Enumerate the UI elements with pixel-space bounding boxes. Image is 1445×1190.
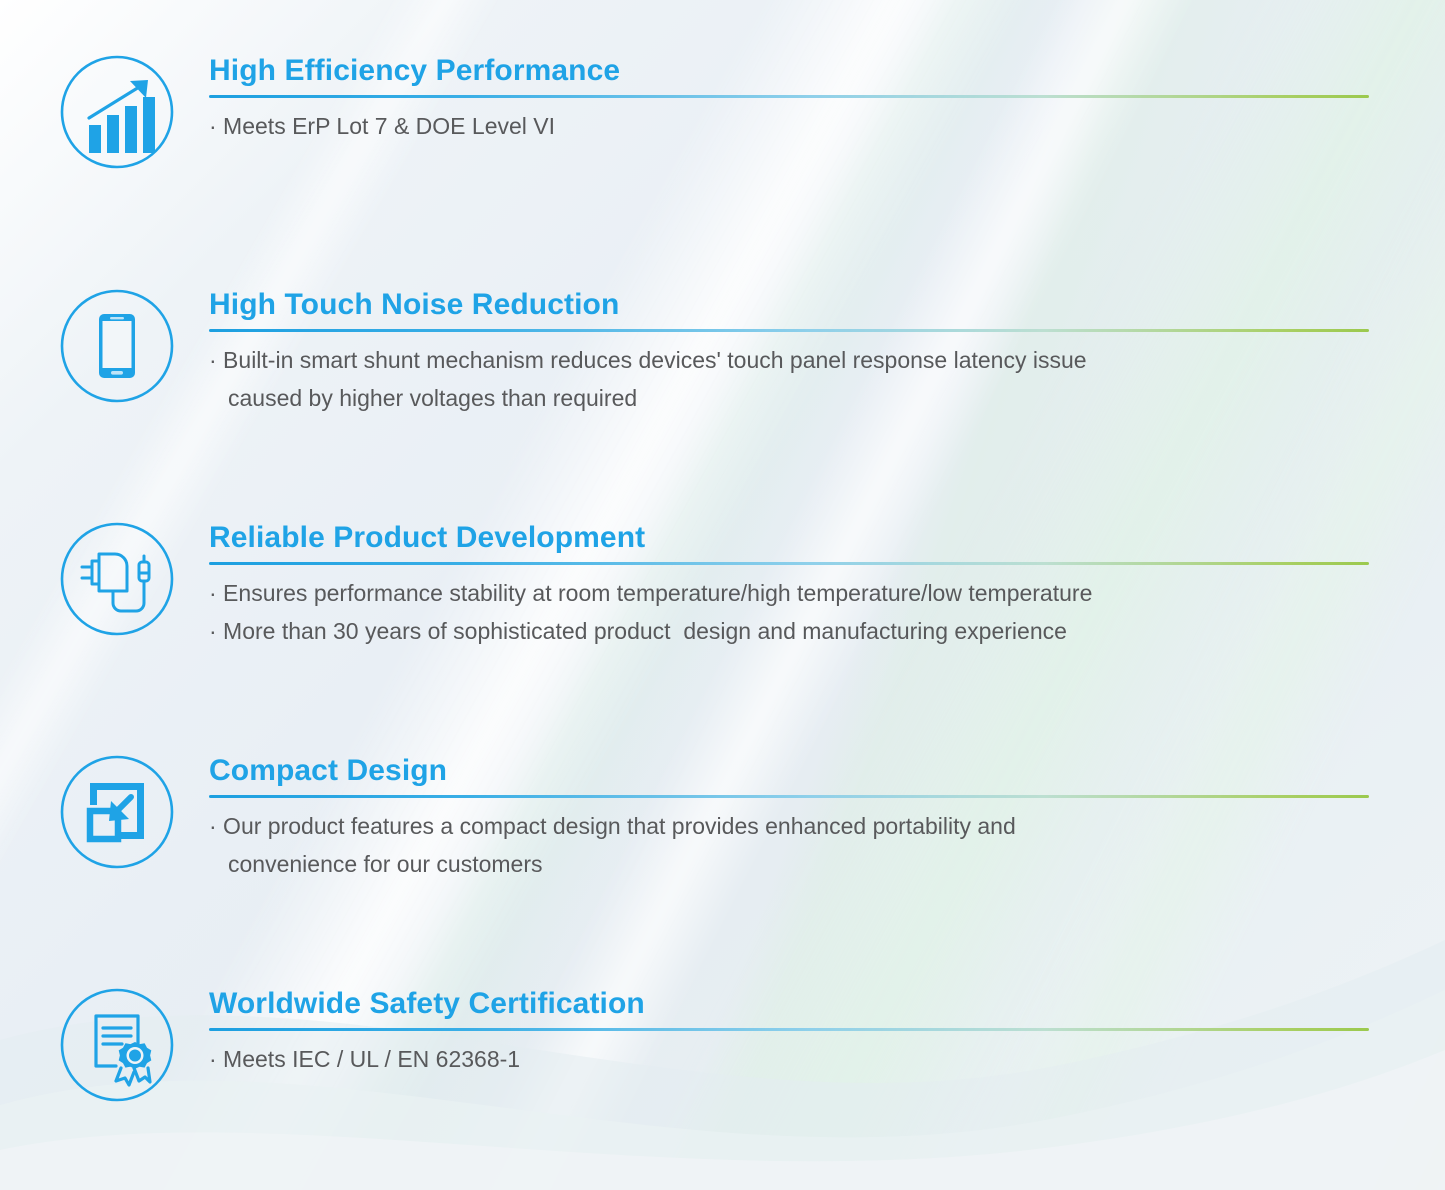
certificate-award-icon [58,986,176,1104]
feature-row: Reliable Product Development · Ensures p… [0,520,1445,710]
bullet-text: Ensures performance stability at room te… [217,580,1093,606]
feature-divider [209,795,1369,798]
bullet-item: · More than 30 years of sophisticated pr… [209,612,1445,650]
bullet-item: · Our product features a compact design … [209,807,1445,883]
smartphone-icon [58,287,176,405]
feature-row: High Efficiency Performance · Meets ErP … [0,53,1445,223]
feature-bullets: · Meets ErP Lot 7 & DOE Level VI [209,107,1445,145]
bullet-item: · Meets IEC / UL / EN 62368-1 [209,1040,1445,1078]
bullet-text: · [209,580,217,606]
bullet-item: · Built-in smart shunt mechanism reduces… [209,341,1445,417]
compact-resize-icon [58,753,176,871]
feature-heading: High Touch Noise Reduction [209,287,1445,323]
bullet-text: Our product features a compact design th… [217,813,1016,839]
feature-heading: Reliable Product Development [209,520,1445,556]
feature-bullets: · Ensures performance stability at room … [209,574,1445,650]
bullet-text: · [209,113,217,139]
feature-divider [209,562,1369,565]
bullet-text: · [209,813,217,839]
power-adapter-icon [58,520,176,638]
feature-row: Compact Design · Our product features a … [0,753,1445,943]
feature-divider [209,329,1369,332]
bullet-text: More than 30 years of sophisticated prod… [217,618,1067,644]
feature-divider [209,95,1369,98]
bullet-text: · [209,347,217,373]
bullet-item: · Meets ErP Lot 7 & DOE Level VI [209,107,1445,145]
bullet-text: Meets IEC / UL / EN 62368-1 [217,1046,520,1072]
bullet-item: · Ensures performance stability at room … [209,574,1445,612]
feature-bullets: · Meets IEC / UL / EN 62368-1 [209,1040,1445,1078]
feature-heading: Worldwide Safety Certification [209,986,1445,1022]
feature-heading: High Efficiency Performance [209,53,1445,89]
bullet-text: Built-in smart shunt mechanism reduces d… [217,347,1087,373]
bullet-text-continued: caused by higher voltages than required [209,379,1445,417]
bullet-text-continued: convenience for our customers [209,845,1445,883]
bullet-text: Meets ErP Lot 7 & DOE Level VI [217,113,555,139]
feature-heading: Compact Design [209,753,1445,789]
feature-bullets: · Our product features a compact design … [209,807,1445,883]
bullet-text: · [209,1046,217,1072]
feature-list-page: High Efficiency Performance · Meets ErP … [0,0,1445,1190]
bar-chart-growth-icon [58,53,176,171]
feature-row: Worldwide Safety Certification · Meets I… [0,986,1445,1156]
feature-bullets: · Built-in smart shunt mechanism reduces… [209,341,1445,417]
bullet-text: · [209,618,217,644]
feature-row: High Touch Noise Reduction · Built-in sm… [0,287,1445,477]
feature-divider [209,1028,1369,1031]
